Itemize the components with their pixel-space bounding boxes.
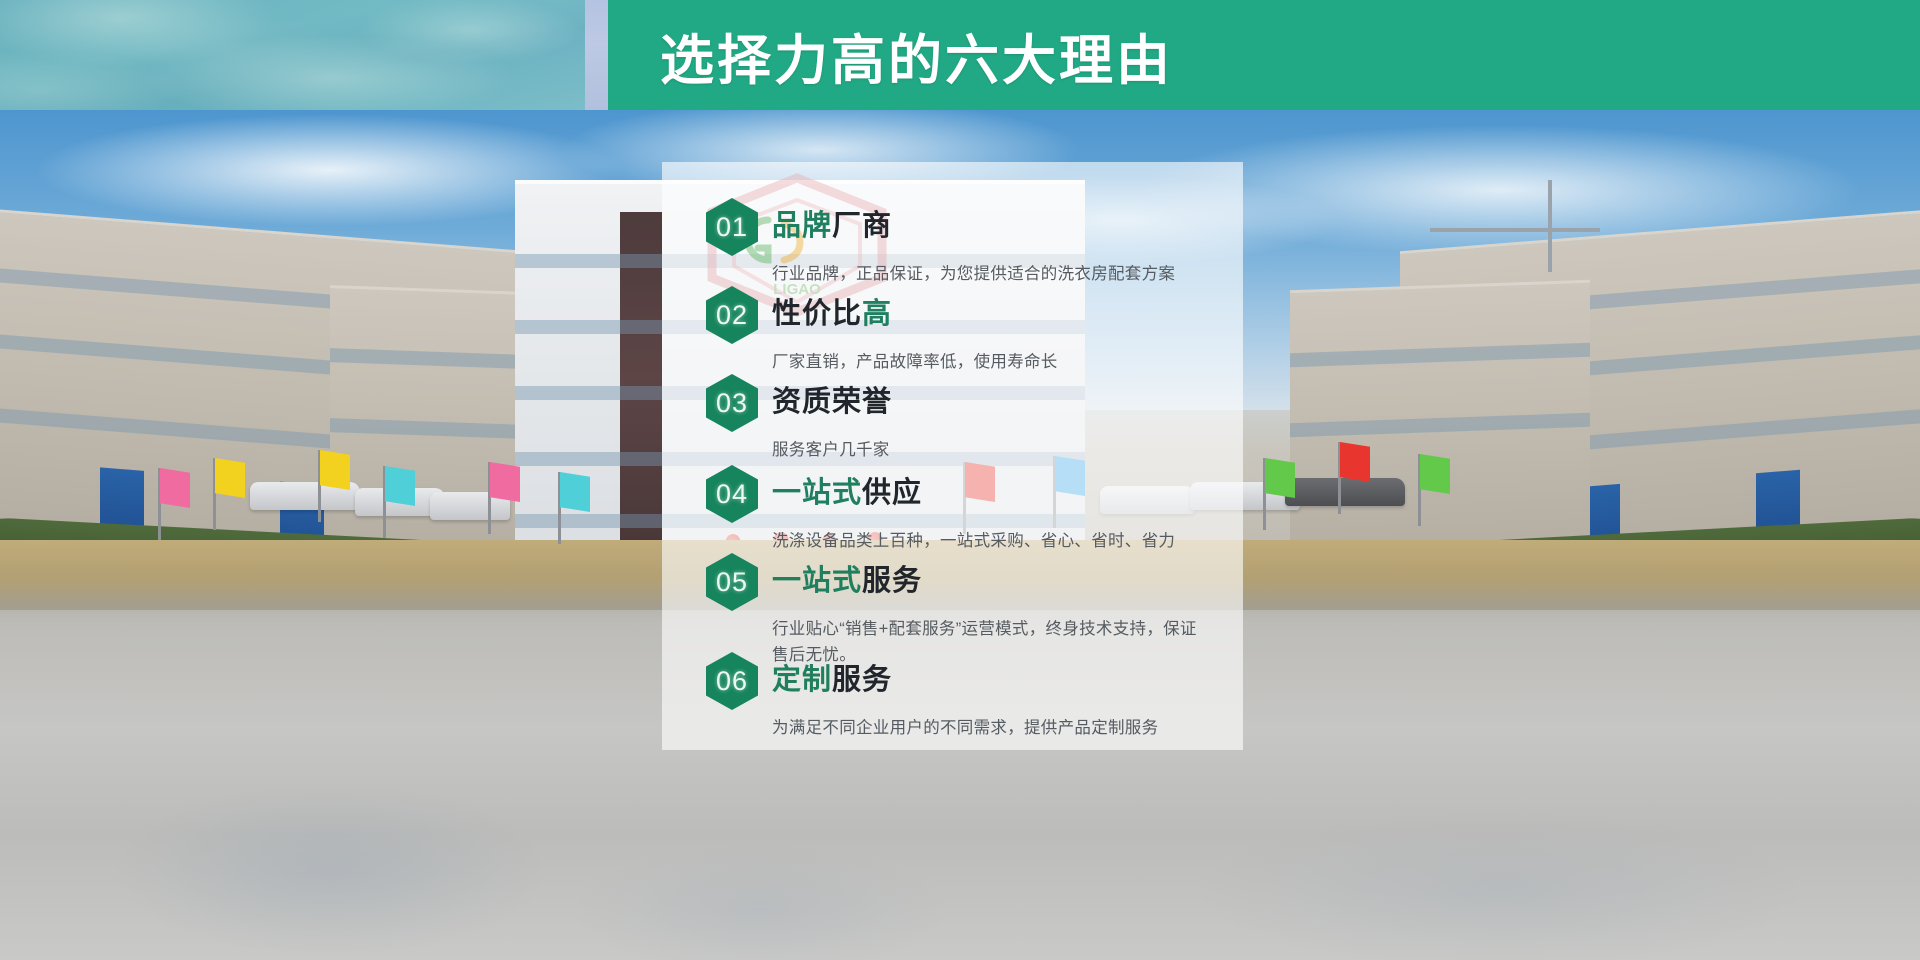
- list-item-number: 04: [716, 479, 748, 510]
- list-item: 01 品牌厂商 行业品牌，正品保证，为您提供适合的洗衣房配套方案: [706, 198, 1226, 288]
- list-item-title: 品牌厂商: [772, 211, 892, 243]
- reasons-list: 01 品牌厂商 行业品牌，正品保证，为您提供适合的洗衣房配套方案 02 性价比高…: [662, 162, 1243, 750]
- title-part-dark: 性价比: [772, 298, 862, 330]
- list-item-heading: 04 一站式供应: [706, 465, 1226, 523]
- list-item: 06 定制服务 为满足不同企业用户的不同需求，提供产品定制服务: [706, 652, 1226, 742]
- title-part-dark: 服务: [862, 565, 922, 597]
- page-title: 选择力高的六大理由: [660, 0, 1173, 110]
- list-item: 02 性价比高 厂家直销，产品故障率低，使用寿命长: [706, 286, 1226, 376]
- decor-flag: [385, 466, 415, 512]
- list-item: 05 一站式服务 行业贴心“销售+配套服务”运营模式，终身技术支持，保证售后无忧…: [706, 553, 1226, 668]
- list-item-heading: 05 一站式服务: [706, 553, 1226, 611]
- list-item-heading: 06 定制服务: [706, 652, 1226, 710]
- list-item-title: 定制服务: [772, 665, 892, 697]
- construction-crane: [1430, 228, 1600, 232]
- title-part-green: 一站式: [772, 565, 862, 597]
- decor-flag: [160, 468, 190, 514]
- title-part-dark: 厂商: [832, 210, 892, 242]
- hex-number-badge: 06: [706, 652, 758, 710]
- hex-number-badge: 04: [706, 465, 758, 523]
- list-item: 04 一站式供应 洗涤设备品类上百种，一站式采购、省心、省时、省力: [706, 465, 1226, 555]
- list-item-heading: 02 性价比高: [706, 286, 1226, 344]
- list-item-heading: 01 品牌厂商: [706, 198, 1226, 256]
- decor-flag: [215, 458, 245, 504]
- list-item-title: 一站式供应: [772, 478, 922, 510]
- list-item-description: 服务客户几千家: [772, 438, 1226, 464]
- list-item-number: 03: [716, 388, 748, 419]
- hex-number-badge: 05: [706, 553, 758, 611]
- decor-flag: [560, 472, 590, 518]
- list-item-number: 02: [716, 300, 748, 331]
- title-part-green: 一站式: [772, 477, 862, 509]
- list-item-heading: 03 资质荣誉: [706, 374, 1226, 432]
- banner-page: 选择力高的六大理由: [0, 0, 1920, 960]
- list-item: 03 资质荣誉 服务客户几千家: [706, 374, 1226, 464]
- list-item-description: 为满足不同企业用户的不同需求，提供产品定制服务: [772, 716, 1226, 742]
- hex-number-badge: 01: [706, 198, 758, 256]
- header-sky-teal-overlay: [0, 0, 585, 110]
- title-part-green: 定制: [772, 664, 832, 696]
- hex-number-badge: 03: [706, 374, 758, 432]
- decor-flag: [490, 462, 520, 508]
- header-divider-strip: [585, 0, 608, 110]
- hex-number-badge: 02: [706, 286, 758, 344]
- decor-flag: [1420, 454, 1450, 500]
- decor-flag: [320, 450, 350, 496]
- content-panel: LIGAO 01 品牌厂商 行业品牌，正品保证，为您提供适合的洗衣房配套方案 0…: [662, 162, 1243, 750]
- list-item-description: 洗涤设备品类上百种，一站式采购、省心、省时、省力: [772, 529, 1226, 555]
- decor-flag: [1340, 442, 1370, 488]
- list-item-description: 行业品牌，正品保证，为您提供适合的洗衣房配套方案: [772, 262, 1226, 288]
- page-header: 选择力高的六大理由: [0, 0, 1920, 110]
- title-part-dark: 服务: [832, 664, 892, 696]
- list-item-number: 05: [716, 567, 748, 598]
- title-part-green: 高: [862, 298, 892, 330]
- list-item-title: 一站式服务: [772, 566, 922, 598]
- building-right-far: [1290, 280, 1590, 565]
- title-part-dark: 供应: [862, 477, 922, 509]
- list-item-title: 资质荣誉: [772, 387, 892, 419]
- title-part-green: 品牌: [772, 210, 832, 242]
- list-item-number: 06: [716, 666, 748, 697]
- title-part-dark: 资质荣誉: [772, 386, 892, 418]
- decor-flag: [1265, 458, 1295, 504]
- list-item-number: 01: [716, 212, 748, 243]
- list-item-title: 性价比高: [772, 299, 892, 331]
- list-item-description: 厂家直销，产品故障率低，使用寿命长: [772, 350, 1226, 376]
